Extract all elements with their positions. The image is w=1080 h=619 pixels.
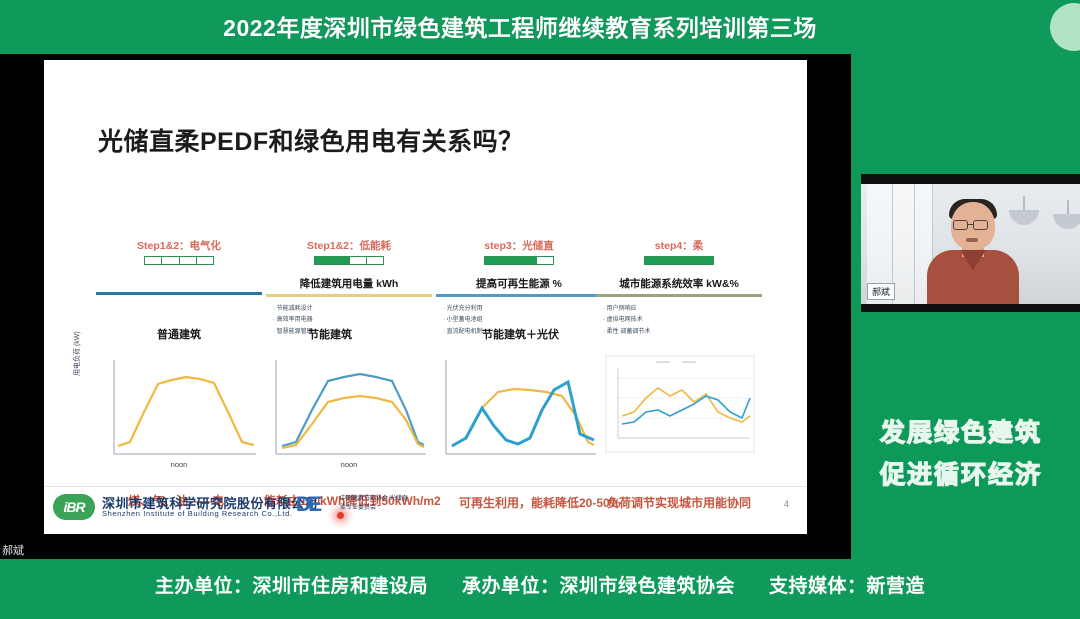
pip — [502, 257, 519, 264]
partner-logo-icon: DE — [296, 493, 319, 517]
step-progress-pips — [144, 256, 214, 265]
speaker-name-overlay: 郝斌 — [2, 542, 24, 558]
pip — [520, 257, 537, 264]
divider — [596, 294, 762, 297]
column-caption: 节能建筑＋光伏 — [482, 326, 559, 342]
page-header: 2022年度深圳市绿色建筑工程师继续教育系列培训第三场 — [0, 0, 1080, 54]
pip — [180, 257, 197, 264]
lamp-icon — [1009, 210, 1039, 225]
screen: 2022年度深圳市绿色建筑工程师继续教育系列培训第三场 光储直柔PEDF和绿色用… — [0, 0, 1080, 619]
step-column-3: step3：光储直 提高可再生能源 % 光伏充分利用 小型蓄电池组 直流配电机制… — [436, 238, 602, 338]
pip — [485, 257, 502, 264]
step-column-2: Step1&2：低能耗 降低建筑用电量 kWh 节能减耗设计 高效率用电器 智慧… — [266, 238, 432, 338]
step-progress-pips — [484, 256, 554, 265]
slide-title: 光储直柔PEDF和绿色用电有关系吗？ — [98, 122, 524, 158]
list-item: 柔性 调蓄调节术 — [603, 327, 762, 338]
video-feed[interactable]: 郝斌 — [861, 184, 1080, 304]
speaker-nametag: 郝斌 — [867, 283, 895, 300]
pip — [197, 257, 213, 264]
list-item: 用户侧响应 — [603, 304, 762, 315]
pip — [645, 257, 662, 264]
speaker-video-panel[interactable]: 郝斌 — [858, 174, 1080, 312]
step-sub-label: 城市能源系统效率 kW&% — [596, 276, 762, 291]
pip — [350, 257, 367, 264]
step-progress-pips — [644, 256, 714, 265]
step-column-4: step4：柔 城市能源系统效率 kW&% 用户侧响应 虚拟电网技术 柔性 调蓄… — [596, 238, 762, 338]
pip — [697, 257, 713, 264]
step-column-1: Step1&2：电气化 普通建筑 — [96, 238, 262, 295]
page-title: 2022年度深圳市绿色建筑工程师继续教育系列培训第三场 — [0, 9, 1040, 43]
banner-organizer: 主办单位：深圳市住房和建设局 — [155, 571, 428, 598]
pip — [680, 257, 697, 264]
bottom-banner: 主办单位：深圳市住房和建设局 承办单位：深圳市绿色建筑协会 支持媒体：新营造 — [0, 559, 1080, 619]
divider — [96, 292, 262, 295]
partner-org-name: 中国建筑节能协会 光储直柔专业委员会 — [340, 495, 410, 514]
slogan-line-1: 发展绿色建筑 — [880, 413, 1042, 449]
slide-page-number: 4 — [784, 499, 789, 509]
lamp-icon — [1053, 214, 1080, 229]
list-item: 高效率用电器 — [273, 315, 432, 326]
bullet-list: 用户侧响应 虚拟电网技术 柔性 调蓄调节术 — [596, 304, 762, 338]
step-label: Step1&2：电气化 — [96, 238, 262, 253]
step-label: Step1&2：低能耗 — [266, 238, 432, 253]
pip — [145, 257, 162, 264]
step-sub-label: 降低建筑用电量 kWh — [266, 276, 432, 291]
ibr-logo-icon: iBR — [53, 494, 95, 520]
chart-y-axis-label: 用电负荷 (kW) — [72, 331, 82, 376]
pip — [162, 257, 179, 264]
step-label: step4：柔 — [596, 238, 762, 253]
glasses-icon — [953, 220, 968, 230]
list-item: 光伏充分利用 — [443, 304, 602, 315]
presentation-slide: 光储直柔PEDF和绿色用电有关系吗？ Step1&2：电气化 普通建筑 Step… — [44, 60, 807, 534]
banner-media: 支持媒体：新营造 — [769, 571, 925, 598]
footer-org-name-en: Shenzhen Institute of Building Research … — [102, 509, 293, 518]
step-sub-label: 提高可再生能源 % — [436, 276, 602, 291]
step-sub-label — [96, 276, 262, 289]
pip — [367, 257, 383, 264]
pip — [332, 257, 349, 264]
pip — [662, 257, 679, 264]
pip — [315, 257, 332, 264]
list-item: 虚拟电网技术 — [603, 315, 762, 326]
speaker-mouth — [966, 238, 978, 242]
pip — [537, 257, 553, 264]
banner-credits: 主办单位：深圳市住房和建设局 承办单位：深圳市绿色建筑协会 支持媒体：新营造 — [0, 571, 1080, 598]
step-progress-pips — [314, 256, 384, 265]
mini-chart-3 — [436, 354, 602, 470]
divider — [436, 294, 602, 297]
glasses-icon — [973, 220, 988, 230]
list-item: 节能减耗设计 — [273, 304, 432, 315]
glasses-bridge — [968, 224, 973, 225]
mini-chart-4 — [604, 354, 756, 454]
list-item: 智慧能源管理 — [273, 327, 432, 338]
slogan-line-2: 促进循环经济 — [880, 455, 1042, 491]
decorative-circle-icon — [1050, 3, 1080, 51]
banner-coorganizer: 承办单位：深圳市绿色建筑协会 — [462, 571, 735, 598]
column-caption: 普通建筑 — [96, 326, 262, 342]
mini-chart-2 — [266, 354, 432, 470]
mini-chart-1 — [96, 354, 262, 470]
slide-viewer[interactable]: 光储直柔PEDF和绿色用电有关系吗？ Step1&2：电气化 普通建筑 Step… — [0, 54, 851, 559]
step-label: step3：光储直 — [436, 238, 602, 253]
slide-footer: iBR 深圳市建筑科学研究院股份有限公司 Shenzhen Institute … — [44, 486, 807, 534]
column-caption: 节能建筑 — [308, 326, 352, 342]
divider — [266, 294, 432, 297]
